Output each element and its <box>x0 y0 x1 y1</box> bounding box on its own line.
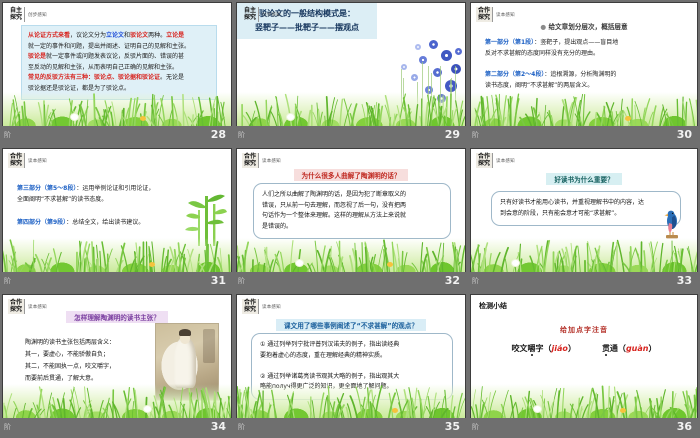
text-line: 是错误的。 <box>262 222 442 233</box>
text-run: 就一定的事件和问题，提出并阐述、证明自己的见解和主张。 <box>28 43 190 50</box>
grass-decoration <box>237 238 465 272</box>
text-run: 立论文 <box>106 32 124 39</box>
grass-decoration <box>237 92 465 126</box>
grass-blades <box>237 238 465 272</box>
question-text: 好读书为什么重要？ <box>546 173 621 185</box>
pinyin-reading: jiáo <box>552 344 568 353</box>
slide-35-question: 课文用了哪些事例阐述了“不求甚解”的观点？ <box>237 317 465 333</box>
text-run: 从论证方式来看 <box>28 32 70 39</box>
slide-footer-30: 阶 30 <box>468 126 700 146</box>
footer-label: 阶 <box>472 276 479 286</box>
slide-footer-32: 阶 32 <box>234 272 468 292</box>
badge-label: 自主 探究 <box>8 7 25 22</box>
slide-header-badge: 自主 探究 创步感知 <box>242 7 281 22</box>
text-run: ：总结全文，给出读书建议。 <box>66 219 144 226</box>
text-line: 句话作为一个整体来理解。这样的理解从方法上来说就 <box>262 211 442 222</box>
footer-label: 阶 <box>4 130 11 140</box>
grass-blades <box>471 384 697 418</box>
slide-cell-30[interactable]: 合作 探究 读本感知 ● 给文章划分层次，概括层意 第一部分（第1段）：竖靶子，… <box>468 0 700 146</box>
text-run: ：竖靶子，提出观点——盲目地 <box>534 39 618 46</box>
text-line: 驳论是就一定事件或问题发表议论，反驳片面的、错误的甚 <box>28 52 210 63</box>
text-run: 常见的反驳方法有三种：驳论点、驳论据和驳论证 <box>28 74 160 81</box>
slide-28-content-box: 从论证方式来看，议论文分为立论文和驳论文两种。立论是就一定的事件和问题，提出并阐… <box>21 25 217 100</box>
slide-header-badge: 合作 探究 读本感知 <box>476 153 515 168</box>
text-line: 至反动的见解和主张，从而表明自己正确的见解和主张。 <box>28 63 210 74</box>
emphasis-dot <box>605 354 607 356</box>
badge-sublabel: 读本感知 <box>262 158 281 164</box>
painting-inscription <box>203 329 215 363</box>
slide-cell-35[interactable]: 合作 探究 读本感知 课文用了哪些事例阐述了“不求甚解”的观点？ ① 通过列举列… <box>234 292 468 438</box>
text-run: 第二部分（第2～4段） <box>485 71 544 78</box>
text-line: 其二，不能固执一点，咬文嚼字， <box>25 361 135 373</box>
grass-blades <box>471 92 697 126</box>
slide-34[interactable]: 合作 探究 读本感知 怎样理解陶渊明的读书主张？ 陶渊明的读书主张包括两层含义：… <box>3 295 231 418</box>
grass-decoration <box>237 384 465 418</box>
grass-blades <box>3 92 231 126</box>
flower-icon <box>429 40 438 49</box>
text-run: 驳论文 <box>130 32 148 39</box>
text-line: 读书态度，阐明“不求甚解”的两层含义。 <box>485 80 685 91</box>
text-run: 至反动的见解和主张，从而表明自己正确的见解和主张。 <box>28 64 178 71</box>
slide-footer-34: 阶 34 <box>0 418 234 438</box>
slide-number: 33 <box>677 274 692 288</box>
slide-36-heading: 给加点字注音 <box>471 325 697 335</box>
slide-28[interactable]: 自主 探究 创步感知 从论证方式来看，议论文分为立论文和驳论文两种。立论是就一定… <box>3 3 231 126</box>
slide-cell-34[interactable]: 合作 探究 读本感知 怎样理解陶渊明的读书主张？ 陶渊明的读书主张包括两层含义：… <box>0 292 234 438</box>
text-run: 就一定事件或问题发表议论，反驳片面的、错误的甚 <box>46 53 184 60</box>
slide-30-paragraph-1: 第一部分（第1段）：竖靶子，提出观点——盲目地反对不求甚解的态度同样没有充分的理… <box>485 37 685 59</box>
text-line: 错误，只从前一句去理解，而忽视了后一句，没有把两 <box>262 201 442 212</box>
paren-close: ） <box>648 344 656 353</box>
text-run: ：追根溯源，分析陶渊明的 <box>544 71 616 78</box>
text-run: 第一部分（第1段） <box>485 39 534 46</box>
slide-footer-31: 阶 31 <box>0 272 234 292</box>
painting-robe <box>174 338 196 388</box>
badge-label: 合作 探究 <box>8 153 25 168</box>
bird-icon <box>661 207 683 241</box>
question-text: 课文用了哪些事例阐述了“不求甚解”的观点？ <box>276 319 426 331</box>
slide-36-items: 咬文嚼字（jiáo）贯通（guàn） <box>471 343 697 354</box>
text-run: ，议论文分为 <box>70 32 106 39</box>
slide-cell-31[interactable]: 合作 探究 读本感知 第三部分（第5～8段）：运用举例论证和引用论证，全面阐明“… <box>0 146 234 292</box>
slide-32-answer-card: 人们之所以曲解了陶渊明的话，是因为犯了断章取义的错误，只从前一句去理解，而忽视了… <box>253 183 451 239</box>
grass-blades <box>237 92 465 126</box>
badge-label: 自主 探究 <box>242 7 259 22</box>
flower-icon <box>415 44 421 50</box>
grass-decoration <box>3 384 231 418</box>
text-run: 第四部分（第9段） <box>17 219 66 226</box>
slide-29[interactable]: 自主 探究 创步感知 驳论文的一般结构模式是： 竖靶子——批靶子——摆观点 <box>237 3 465 126</box>
slide-number: 29 <box>445 128 460 142</box>
slide-number: 31 <box>211 274 226 288</box>
footer-label: 阶 <box>238 276 245 286</box>
badge-label: 合作 探究 <box>242 153 259 168</box>
footer-label: 阶 <box>238 422 245 432</box>
text-run: 。无论是 <box>160 74 184 81</box>
grass-decoration <box>3 238 231 272</box>
slide-34-answer-text: 陶渊明的读书主张包括两层含义：其一，要虚心，不能骄傲自负；其二，不能固执一点，咬… <box>25 337 135 385</box>
slide-33-answer-card: 只有好读书才能用心读书，并重视理解书中的内容，达到会意的阶段，只有能会意才可能“… <box>491 191 681 226</box>
flower-icon <box>441 50 452 61</box>
bullet-icon: ● <box>540 23 546 31</box>
badge-sublabel: 创步感知 <box>28 12 47 18</box>
text-line: 陶渊明的读书主张包括两层含义： <box>25 337 135 349</box>
text-run: 读书态度，阐明“不求甚解”的两层含义。 <box>485 82 593 89</box>
badge-label: 检测小结 <box>479 302 507 310</box>
text-run: 驳论是 <box>28 53 46 60</box>
slide-header-badge: 合作 探究 读本感知 <box>242 153 281 168</box>
slide-31[interactable]: 合作 探究 读本感知 第三部分（第5～8段）：运用举例论证和引用论证，全面阐明“… <box>3 149 231 272</box>
slide-36[interactable]: 检测小结 给加点字注音 咬文嚼字（jiáo）贯通（guàn） <box>471 295 697 418</box>
flower-icon <box>411 74 418 81</box>
painting-hair <box>179 329 191 336</box>
text-run: 立论是 <box>166 32 184 39</box>
text-run: 全面阐明“不求甚解”的读书态度。 <box>17 196 107 203</box>
slide-footer-33: 阶 33 <box>468 272 700 292</box>
grass-decoration <box>471 92 697 126</box>
slide-36-badge: 检测小结 <box>475 299 511 313</box>
text-run: ：运用举例论证和引用论证， <box>76 185 154 192</box>
pinyin-word: 贯通（ <box>602 344 626 353</box>
grass-blades <box>471 238 697 272</box>
text-run: 第三部分（第5～8段） <box>17 185 76 192</box>
text-line: 要抱着虚心的态度，重在理解经典的精神实质。 <box>260 351 444 362</box>
pinyin-reading: guàn <box>626 344 649 353</box>
text-run: 驳论据还是驳论证，都是为了驳论点。 <box>28 85 130 92</box>
text-line: 就一定的事件和问题，提出并阐述、证明自己的见解和主张。 <box>28 42 210 53</box>
slide-footer-28: 阶 28 <box>0 126 234 146</box>
text-line: 第一部分（第1段）：竖靶子，提出观点——盲目地 <box>485 37 685 48</box>
slide-thumbnail-grid: 自主 探究 创步感知 从论证方式来看，议论文分为立论文和驳论文两种。立论是就一定… <box>0 0 700 438</box>
slide-30-paragraph-2: 第二部分（第2～4段）：追根溯源，分析陶渊明的读书态度，阐明“不求甚解”的两层含… <box>485 69 685 91</box>
text-line: 其一，要虚心，不能骄傲自负； <box>25 349 135 361</box>
slide-number: 35 <box>445 420 460 434</box>
question-text: 为什么很多人曲解了陶渊明的话？ <box>294 169 409 181</box>
slide-number: 32 <box>445 274 460 288</box>
grass-blades <box>3 238 231 272</box>
slide-header-badge: 合作 探究 读本感知 <box>242 299 281 314</box>
footer-label: 阶 <box>238 130 245 140</box>
text-line: 第二部分（第2～4段）：追根溯源，分析陶渊明的 <box>485 69 685 80</box>
slide-cell-29[interactable]: 自主 探究 创步感知 驳论文的一般结构模式是： 竖靶子——批靶子——摆观点 阶 … <box>234 0 468 146</box>
heading-text: 给文章划分层次，概括层意 <box>548 23 627 31</box>
footer-label: 阶 <box>4 422 11 432</box>
text-line <box>260 361 444 372</box>
badge-label: 合作 探究 <box>476 153 493 168</box>
slide-35[interactable]: 合作 探究 读本感知 课文用了哪些事例阐述了“不求甚解”的观点？ ① 通过列举列… <box>237 295 465 418</box>
question-text: 怎样理解陶渊明的读书主张？ <box>66 311 168 323</box>
slide-footer-29: 阶 29 <box>234 126 468 146</box>
pinyin-word: 咬文嚼字（ <box>512 344 552 353</box>
flower-icon <box>451 64 461 74</box>
slide-cell-28[interactable]: 自主 探究 创步感知 从论证方式来看，议论文分为立论文和驳论文两种。立论是就一定… <box>0 0 234 146</box>
text-line: 常见的反驳方法有三种：驳论点、驳论据和驳论证。无论是 <box>28 73 210 84</box>
badge-sublabel: 读本感知 <box>262 304 281 310</box>
grass-decoration <box>471 384 697 418</box>
slide-33-question: 好读书为什么重要？ <box>471 171 697 187</box>
grass-decoration <box>3 92 231 126</box>
slide-number: 34 <box>211 420 226 434</box>
title-line-2: 竖靶子——批靶子——摆观点 <box>242 21 372 35</box>
footer-label: 阶 <box>472 130 479 140</box>
slide-33[interactable]: 合作 探究 读本感知 好读书为什么重要？ 只有好读书才能用心读书，并重视理解书中… <box>471 149 697 272</box>
badge-label: 合作 探究 <box>476 7 493 22</box>
flower-icon <box>419 56 427 64</box>
text-line: 从论证方式来看，议论文分为立论文和驳论文两种。立论是 <box>28 31 210 42</box>
badge-sublabel: 创步感知 <box>262 12 281 18</box>
slide-number: 36 <box>677 420 692 434</box>
grass-decoration <box>471 238 697 272</box>
text-line: ② 通过列举诸葛亮读书观其大略的例子，指出观其大 <box>260 372 444 383</box>
text-run: 反对不求甚解的态度同样没有充分的理由。 <box>485 50 599 57</box>
slide-footer-35: 阶 35 <box>234 418 468 438</box>
text-line: 反对不求甚解的态度同样没有充分的理由。 <box>485 48 685 59</box>
slide-header-badge: 自主 探究 创步感知 <box>8 7 47 22</box>
footer-label: 阶 <box>472 422 479 432</box>
badge-label: 合作 探究 <box>242 299 259 314</box>
slide-number: 30 <box>677 128 692 142</box>
slide-header-badge: 合作 探究 读本感知 <box>8 153 47 168</box>
text-run: 两种。 <box>148 32 166 39</box>
slide-32-question: 为什么很多人曲解了陶渊明的话？ <box>237 167 465 183</box>
slide-30[interactable]: 合作 探究 读本感知 ● 给文章划分层次，概括层意 第一部分（第1段）：竖靶子，… <box>471 3 697 126</box>
slide-footer-36: 阶 36 <box>468 418 700 438</box>
text-line: ① 通过列举列宁批评普列汉诺夫的例子，指出读经典 <box>260 340 444 351</box>
badge-sublabel: 读本感知 <box>496 158 515 164</box>
grass-blades <box>3 384 231 418</box>
footer-label: 阶 <box>4 276 11 286</box>
badge-sublabel: 读本感知 <box>28 158 47 164</box>
slide-cell-33[interactable]: 合作 探究 读本感知 好读书为什么重要？ 只有好读书才能用心读书，并重视理解书中… <box>468 146 700 292</box>
paren-close: ） <box>568 344 576 353</box>
text-line: 到会意的阶段，只有能会意才可能“求甚解”。 <box>500 209 672 220</box>
flower-icon <box>455 48 462 55</box>
badge-sublabel: 读本感知 <box>496 12 515 18</box>
slide-number: 28 <box>211 128 226 142</box>
slide-header-badge: 合作 探究 读本感知 <box>476 7 515 22</box>
slide-cell-32[interactable]: 合作 探究 读本感知 为什么很多人曲解了陶渊明的话？ 人们之所以曲解了陶渊明的话… <box>234 146 468 292</box>
slide-30-heading: ● 给文章划分层次，概括层意 <box>471 21 697 31</box>
slide-cell-36[interactable]: 检测小结 给加点字注音 咬文嚼字（jiáo）贯通（guàn） 阶 36 <box>468 292 700 438</box>
slide-32[interactable]: 合作 探究 读本感知 为什么很多人曲解了陶渊明的话？ 人们之所以曲解了陶渊明的话… <box>237 149 465 272</box>
grass-blades <box>237 384 465 418</box>
emphasis-dot <box>531 354 533 356</box>
text-line: 只有好读书才能用心读书，并重视理解书中的内容，达 <box>500 198 672 209</box>
text-line: 人们之所以曲解了陶渊明的话，是因为犯了断章取义的 <box>262 190 442 201</box>
